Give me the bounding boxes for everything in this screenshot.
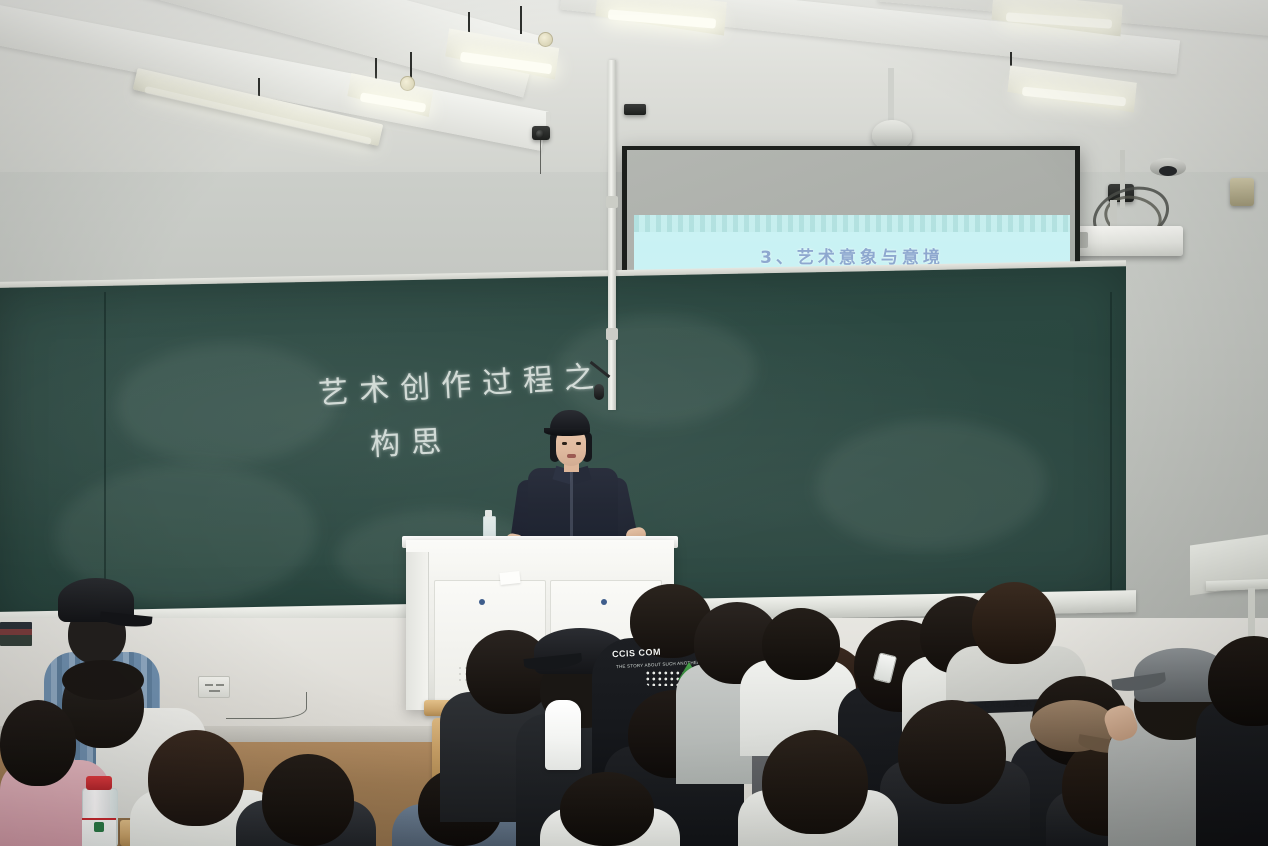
cabinet-lock-icon[interactable] <box>479 599 485 605</box>
lecturer-cap-brim <box>544 428 590 436</box>
camera-wire <box>540 140 541 174</box>
dome-camera <box>1150 158 1186 176</box>
microphone-pole <box>608 60 616 410</box>
bottle-cap <box>485 510 492 517</box>
wall-shelf <box>1206 579 1268 591</box>
pole-joint <box>606 196 618 208</box>
chalkboard-seam <box>104 292 106 612</box>
microphone-icon <box>594 384 604 400</box>
podium-side-panel <box>406 552 429 710</box>
chalkboard-seam <box>1110 292 1112 612</box>
tissue-pack <box>545 700 581 770</box>
slide-border-top <box>634 215 1070 232</box>
lecturer-mouth <box>567 454 576 458</box>
wall-sensor <box>624 104 646 115</box>
wall-speaker <box>1230 178 1254 206</box>
outlet-cable <box>226 692 307 719</box>
chalkboard-line-2: 构思 <box>369 416 453 464</box>
bottle-cap <box>86 776 112 790</box>
pole-joint <box>606 328 618 340</box>
classroom-photograph: 3、艺术意象与意境 ❖ 《玉阶怨》 ❖ —李白 ❖ 玉阶生白露， ❖ 夜久侵罗袜… <box>0 0 1268 846</box>
stacked-books <box>0 622 32 646</box>
paper-on-podium <box>499 571 520 585</box>
lecturer <box>500 410 640 550</box>
cabinet-lock-icon[interactable] <box>601 599 607 605</box>
bottle-logo-icon <box>94 822 104 832</box>
